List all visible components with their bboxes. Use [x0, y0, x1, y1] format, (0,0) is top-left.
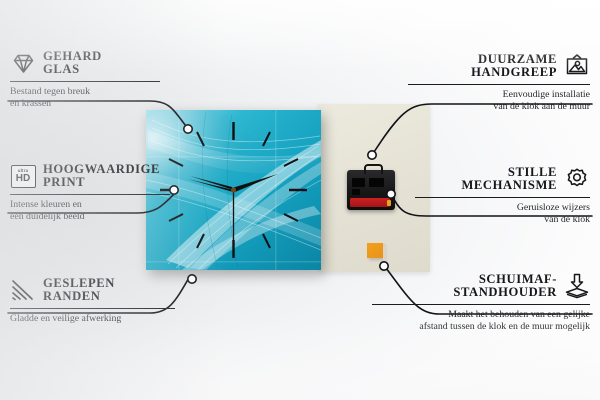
callout-dot-gehard-glas: [184, 125, 192, 133]
hanging-picture-icon: [564, 54, 590, 78]
callout-dot-duurzame-handgreep: [368, 151, 376, 159]
infographic-canvas: GEHARD GLAS Bestand tegen breuk en krass…: [0, 0, 600, 400]
feature-geslepen-randen: GESLEPEN RANDEN Gladde en veilige afwerk…: [10, 277, 175, 325]
feature-title-line2: PRINT: [43, 176, 160, 189]
feature-title-line1: DUURZAME: [471, 53, 557, 66]
feature-subtitle: Eenvoudige installatie van de klok aan d…: [408, 89, 590, 114]
feature-gehard-glas: GEHARD GLAS Bestand tegen breuk en krass…: [10, 50, 160, 111]
divider: [10, 194, 170, 195]
feature-schuimaf-standhouder: SCHUIMAF- STANDHOUDER Maakt het behouden…: [372, 273, 590, 334]
feature-title-line2: GLAS: [43, 63, 102, 76]
ultra-hd-large-text: HD: [16, 174, 30, 184]
feature-title-line2: RANDEN: [43, 290, 115, 303]
feature-subtitle: Maakt het behouden van een gelijke afsta…: [372, 309, 590, 334]
feature-title-line1: HOOGWAARDIGE: [43, 163, 160, 176]
divider: [10, 308, 175, 309]
beveled-edge-icon: [10, 278, 36, 302]
callout-dot-schuimaf-standhouder: [380, 262, 388, 270]
feature-subtitle: Geruisloze wijzers van de klok: [415, 202, 590, 227]
press-layers-icon: [564, 274, 590, 298]
feature-stille-mechanisme: STILLE MECHANISME Geruisloze wijzers van…: [415, 166, 590, 227]
callout-dot-stille-mechanisme: [387, 190, 395, 198]
feature-title-line1: GESLEPEN: [43, 277, 115, 290]
feature-subtitle: Intense kleuren en een duidelijk beeld: [10, 199, 170, 224]
gear-icon: [564, 167, 590, 191]
feature-subtitle: Bestand tegen breuk en krassen: [10, 86, 160, 111]
feature-hoogwaardige-print: ultra HD HOOGWAARDIGE PRINT Intense kleu…: [10, 163, 170, 224]
ultra-hd-icon: ultra HD: [10, 164, 36, 188]
divider: [415, 197, 590, 198]
feature-title-line1: STILLE: [461, 166, 557, 179]
callout-dot-geslepen-randen: [188, 275, 196, 283]
callout-dot-hoogwaardige-print: [170, 186, 178, 194]
divider: [10, 81, 160, 82]
feature-title-line2: MECHANISME: [461, 179, 557, 192]
divider: [372, 304, 590, 305]
feature-title-line2: HANDGREEP: [471, 66, 557, 79]
feature-duurzame-handgreep: DUURZAME HANDGREEP Eenvoudige installati…: [408, 53, 590, 114]
feature-title-line1: GEHARD: [43, 50, 102, 63]
feature-title-line2: STANDHOUDER: [453, 286, 557, 299]
diamond-icon: [10, 51, 36, 75]
divider: [408, 84, 590, 85]
feature-title-line1: SCHUIMAF-: [453, 273, 557, 286]
feature-subtitle: Gladde en veilige afwerking: [10, 313, 175, 326]
